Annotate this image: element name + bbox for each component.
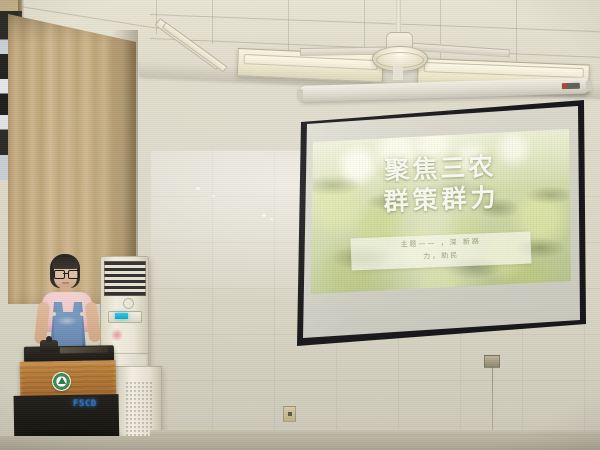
tshirt-print — [56, 316, 78, 326]
ac-display — [115, 313, 128, 319]
lectern-top-highlight — [60, 347, 108, 354]
lectern-led-text: FSCD — [73, 399, 107, 410]
ac-decal — [110, 329, 124, 341]
ceiling-fan-stem — [393, 66, 403, 80]
overalls-clip — [80, 312, 84, 316]
slide-title: 聚焦三农 群策群力 — [311, 149, 571, 220]
presenter-fringe — [52, 257, 79, 269]
glasses-lens — [68, 270, 79, 279]
lectern-microphone[interactable] — [40, 340, 58, 352]
floor — [0, 436, 600, 450]
institution-emblem-icon — [52, 372, 71, 391]
presenter-arm-right — [85, 301, 102, 342]
overalls-clip — [52, 312, 56, 316]
wall-power-socket[interactable] — [283, 406, 296, 422]
projected-slide: 聚焦三农 群策群力 主题—— ，深 新路 力，助民 — [311, 129, 571, 294]
casing-end-cap — [586, 80, 592, 91]
ceiling-fan-downrod — [396, 0, 401, 34]
ac-brand-badge-icon — [123, 298, 134, 309]
glasses-lens — [54, 270, 65, 279]
casing-end-cap — [297, 89, 303, 100]
classroom-photo: 聚焦三农 群策群力 主题—— ，深 新路 力，助民 — [0, 0, 600, 450]
presenter-mouth — [62, 282, 69, 284]
glasses-icon — [54, 270, 77, 277]
brand-logo-icon — [562, 83, 580, 90]
